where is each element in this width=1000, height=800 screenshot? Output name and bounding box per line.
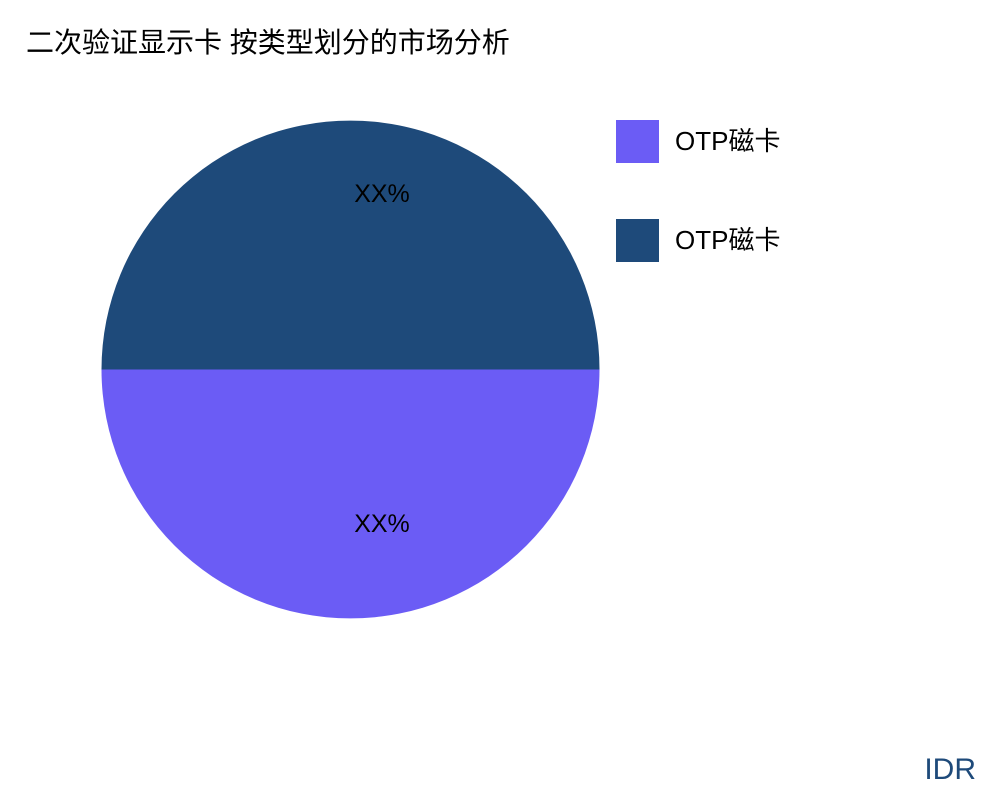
pie-slice-label-1: XX% bbox=[354, 509, 410, 539]
legend-item-label: OTP磁卡 bbox=[675, 120, 780, 163]
pie-slice-otp-card-1[interactable] bbox=[102, 370, 600, 619]
chart-legend: OTP磁卡 OTP磁卡 bbox=[616, 120, 976, 262]
pie-plot-area: XX% XX% bbox=[101, 120, 600, 619]
pie-slice-otp-card-2[interactable] bbox=[102, 121, 600, 370]
legend-item-otp-card-2[interactable]: OTP磁卡 bbox=[616, 219, 976, 262]
legend-color-swatch-icon bbox=[616, 219, 659, 262]
legend-item-otp-card-1[interactable]: OTP磁卡 bbox=[616, 120, 976, 163]
pie-graphic bbox=[101, 120, 600, 619]
page-title: 二次验证显示卡 按类型划分的市场分析 bbox=[26, 26, 510, 60]
legend-item-label: OTP磁卡 bbox=[675, 219, 780, 262]
watermark-label: IDR bbox=[924, 752, 976, 788]
pie-slice-label-2: XX% bbox=[354, 179, 410, 209]
pie-chart-figure: 二次验证显示卡 按类型划分的市场分析 XX% XX% OTP磁卡 OTP磁卡 I… bbox=[0, 0, 1000, 800]
legend-color-swatch-icon bbox=[616, 120, 659, 163]
